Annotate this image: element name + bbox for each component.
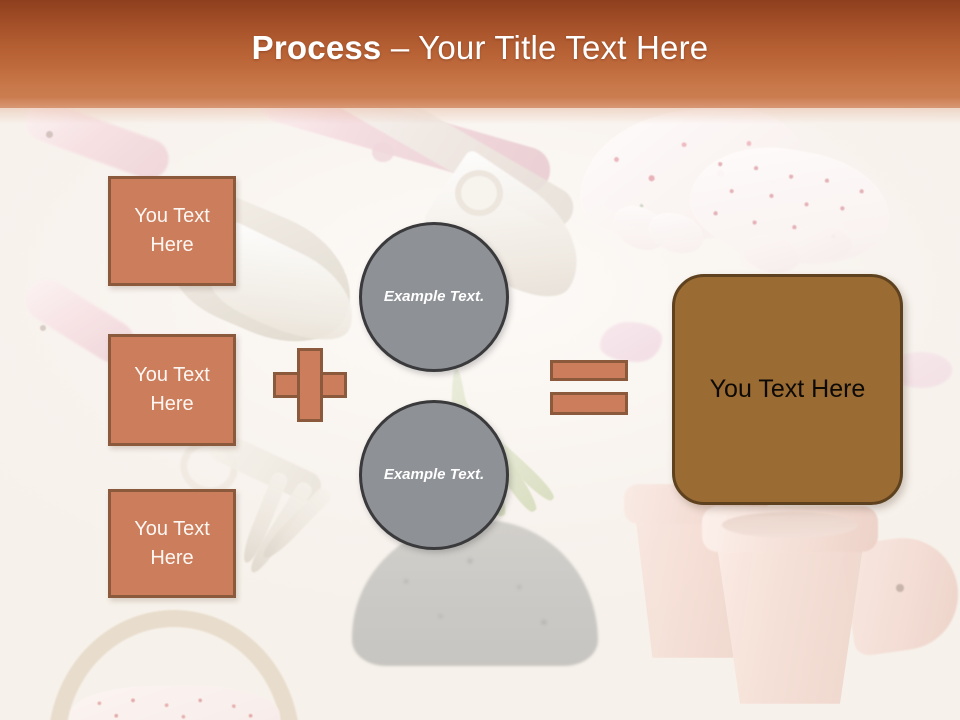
input-tile-3-label: You Text Here	[111, 515, 233, 573]
input-tile-2-label: You Text Here	[111, 361, 233, 419]
example-circle-2-label: Example Text.	[384, 463, 484, 486]
plus-center-fill	[300, 375, 320, 395]
input-tile-2[interactable]: You Text Here	[108, 334, 236, 446]
example-circle-2[interactable]: Example Text.	[359, 400, 509, 550]
example-circle-1[interactable]: Example Text.	[359, 222, 509, 372]
presentation-slide: Process – Your Title Text Here You Text …	[0, 0, 960, 720]
input-tile-1[interactable]: You Text Here	[108, 176, 236, 286]
plus-operator-icon	[273, 348, 347, 422]
input-tile-3[interactable]: You Text Here	[108, 489, 236, 598]
page-title: Process – Your Title Text Here	[252, 29, 709, 67]
page-title-bold: Process	[252, 29, 382, 66]
example-circle-1-label: Example Text.	[384, 285, 484, 308]
result-box-label: You Text Here	[710, 375, 866, 404]
equals-bottom-bar	[550, 392, 628, 415]
pink-fabric-graphic	[600, 322, 662, 362]
input-tile-1-label: You Text Here	[111, 202, 233, 260]
page-title-rest: – Your Title Text Here	[381, 29, 708, 66]
slide-title-bar: Process – Your Title Text Here	[0, 0, 960, 108]
result-box[interactable]: You Text Here	[672, 274, 903, 505]
pruning-shears-pivot-graphic	[455, 170, 503, 216]
pruning-shears-grip-graphic	[372, 142, 394, 162]
trowel-handle-hole-graphic	[46, 131, 53, 138]
equals-operator-icon	[550, 360, 628, 414]
hand-fork-handle-hole-graphic	[40, 325, 46, 331]
equals-top-bar	[550, 360, 628, 381]
terracotta-pot-interior-graphic	[722, 512, 858, 538]
terracotta-pot-drain-hole-graphic	[896, 584, 904, 592]
